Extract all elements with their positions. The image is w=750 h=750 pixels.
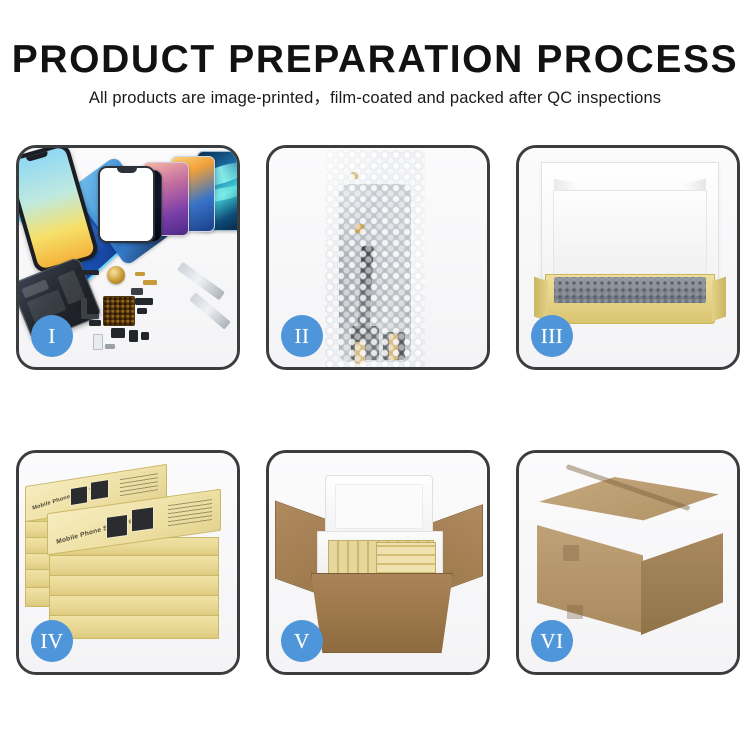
stack-box-fr-4: [49, 595, 219, 617]
foam-box-lid: [325, 475, 433, 539]
box-label-front: Mobile Phone Spare Parts: [56, 515, 142, 546]
step-badge-6: VI: [531, 620, 573, 662]
process-step-5[interactable]: V: [266, 450, 490, 675]
process-step-3[interactable]: III: [516, 145, 740, 370]
carton-tape-patch-1: [563, 545, 579, 561]
part-gold-2: [143, 280, 157, 285]
part-camera: [111, 328, 125, 338]
process-step-2[interactable]: II: [266, 145, 490, 370]
white-foam-sheet: [553, 190, 707, 278]
stack-box-fr-3: [49, 575, 219, 597]
part-strip-1: [75, 270, 99, 275]
process-step-4[interactable]: Mobile Phone Spare Parts Mobile Phone Sp…: [16, 450, 240, 675]
carton-front-face: [537, 525, 643, 633]
box-text-lines-back: [120, 470, 158, 496]
process-grid: I II: [0, 0, 750, 750]
part-metal-1: [105, 344, 115, 349]
glass-panel: [98, 166, 155, 243]
step-badge-1: I: [31, 315, 73, 357]
box-window-back-1: [70, 485, 88, 506]
yellow-box-tray: [545, 274, 715, 324]
part-gold-1: [135, 272, 145, 276]
step-badge-4: IV: [31, 620, 73, 662]
part-chip-3: [137, 308, 147, 314]
stack-box-fr-5: [49, 615, 219, 639]
step-badge-5: V: [281, 620, 323, 662]
part-chip-6: [89, 320, 101, 326]
part-chip-1: [131, 288, 143, 295]
stack-box-fr-2: [49, 555, 219, 577]
part-white-1: [93, 334, 103, 350]
part-chip-4: [129, 330, 138, 342]
plastic-sheen: [325, 150, 425, 370]
speaker-coil-part: [107, 266, 125, 284]
box-text-lines-front: [168, 496, 212, 526]
box-window-front-2: [131, 506, 154, 532]
screwdriver-tool: [189, 292, 231, 329]
tray-right-side: [712, 276, 726, 321]
part-flex-2: [81, 314, 99, 319]
process-step-1[interactable]: I: [16, 145, 240, 370]
process-step-6[interactable]: VI: [516, 450, 740, 675]
connector-array-part: [103, 296, 135, 326]
bubble-wrap-bag: [325, 150, 425, 370]
phone-large-screen: [16, 146, 95, 270]
part-chip-2: [135, 298, 153, 305]
tweezers-tool: [177, 262, 225, 301]
step-badge-2: II: [281, 315, 323, 357]
box-window-back-2: [90, 479, 109, 501]
step-badge-3: III: [531, 315, 573, 357]
carton-tape-patch-2: [567, 605, 583, 619]
carton-body: [311, 573, 453, 653]
carton-side-face: [641, 533, 723, 635]
box-window-front-1: [106, 514, 128, 539]
grey-packed-parts: [554, 277, 706, 303]
part-chip-5: [141, 332, 149, 340]
